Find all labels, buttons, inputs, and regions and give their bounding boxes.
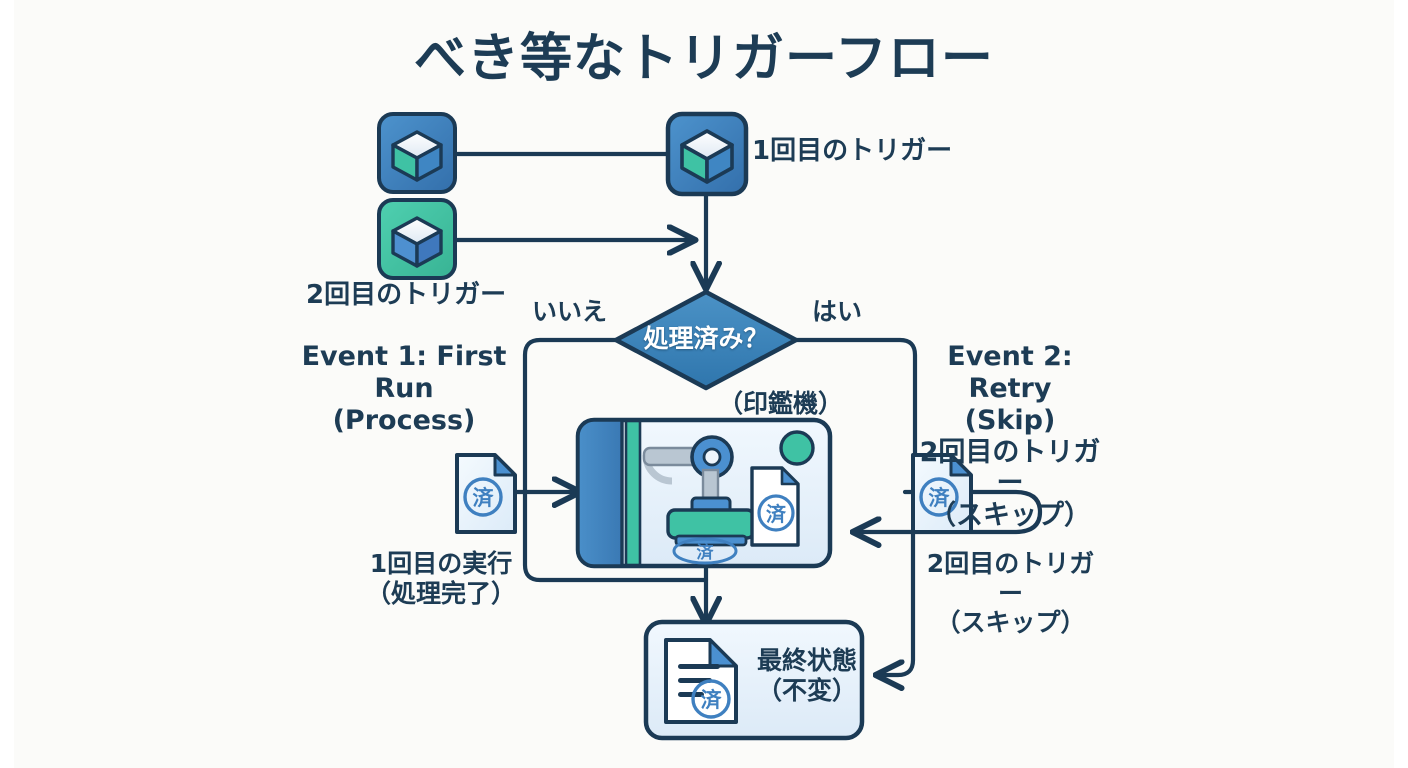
- machine-platen-stamp-text: 済: [697, 542, 715, 563]
- trigger-icon-1: [379, 114, 455, 192]
- document-left: 済: [457, 455, 515, 532]
- label-machine-caption: （印鑑機）: [718, 389, 843, 419]
- label-edge-yes: はい: [812, 297, 862, 327]
- label-second-trigger-skip: 2回目のトリガー （スキップ）: [918, 549, 1103, 638]
- diagram-canvas: 済 済 済 済: [0, 0, 1408, 768]
- page-title: べき等なトリガーフロー: [0, 16, 1408, 91]
- label-first-run: 1回目の実行 （処理完了）: [366, 549, 516, 608]
- label-event-2: Event 2: Retry (Skip) 2回目のトリガー （スキップ）: [918, 341, 1102, 532]
- machine-doc-stamp-text: 済: [766, 502, 787, 526]
- label-trigger-1: 1回目のトリガー: [752, 136, 952, 167]
- label-edge-no: いいえ: [532, 297, 607, 327]
- label-trigger-2: 2回目のトリガー: [306, 280, 506, 311]
- flow-diagram-svg: 済 済 済 済: [0, 0, 1408, 768]
- stamp-machine: 済 済: [578, 420, 830, 566]
- document-left-stamp-text: 済: [473, 486, 495, 510]
- edge-skip-to-final: [878, 532, 913, 675]
- label-event-1: Event 1: First Run (Process): [290, 341, 518, 437]
- trigger-target-icon: [668, 114, 746, 194]
- label-decision: 処理済み？: [636, 319, 776, 355]
- label-final-state: 最終状態 （不変）: [748, 646, 866, 705]
- cube-glyph-1: [393, 132, 441, 180]
- trigger-icon-2: [379, 200, 455, 278]
- final-state-stamp-text: 済: [701, 688, 723, 712]
- cube-glyph-2: [393, 218, 441, 266]
